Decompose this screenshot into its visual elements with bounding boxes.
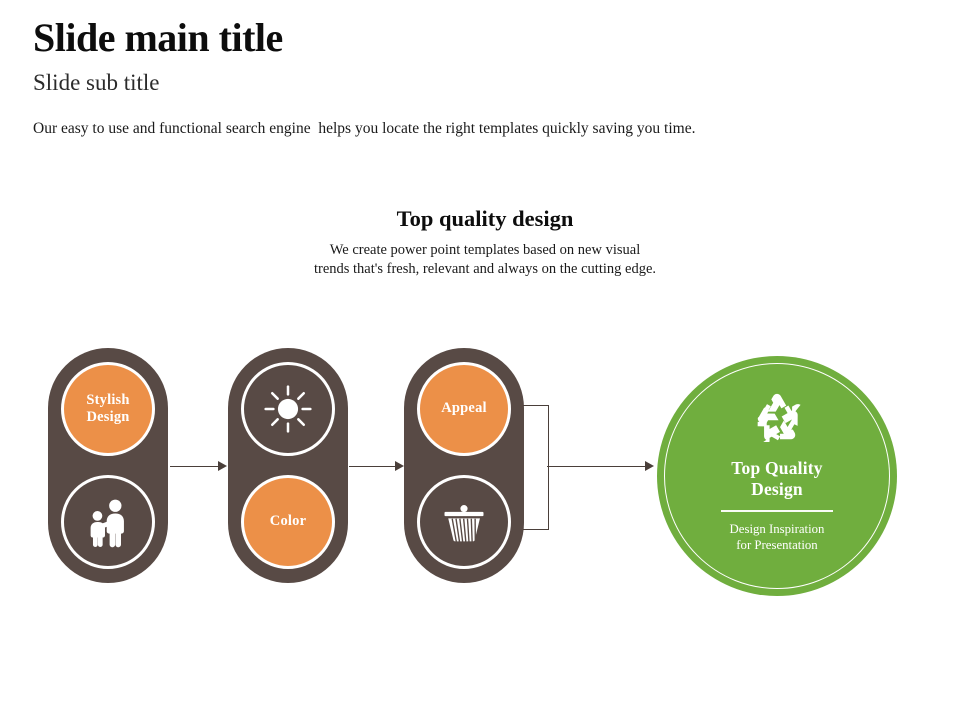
section-title: Top quality design [220, 205, 750, 232]
diagram-step-stylish-design[interactable]: Stylish Design [48, 348, 168, 583]
result-subtitle: Design Inspiration for Presentation [730, 521, 825, 554]
node-color-icon[interactable] [241, 362, 335, 456]
arrow-step3-to-result [547, 461, 654, 471]
recycle-icon [749, 392, 805, 442]
node-color-label[interactable]: Color [241, 475, 335, 569]
result-badge-top-quality-design[interactable]: Top Quality Design Design Inspiration fo… [657, 356, 897, 596]
arrow-head [395, 461, 404, 471]
arrow-head [645, 461, 654, 471]
page-subtitle: Slide sub title [33, 70, 923, 95]
node-stylish-design-icon[interactable] [61, 475, 155, 569]
sun-icon [262, 383, 314, 435]
node-label-text: Color [270, 513, 306, 530]
node-appeal-icon[interactable] [417, 475, 511, 569]
result-title: Top Quality Design [731, 458, 823, 499]
diagram-step-appeal[interactable]: Appeal [404, 348, 524, 583]
arrow-step1-to-step2 [170, 461, 227, 471]
arrow-step2-to-step3 [349, 461, 404, 471]
slide-header: Slide main title Slide sub title Our eas… [33, 16, 923, 139]
diagram-step-color[interactable]: Color [228, 348, 348, 583]
node-label-text: Appeal [441, 400, 487, 417]
bracket-connector [523, 405, 549, 530]
result-divider [721, 510, 833, 511]
intro-paragraph: Our easy to use and functional search en… [33, 119, 923, 138]
section-description: We create power point templates based on… [220, 241, 750, 280]
arrow-shaft [547, 466, 645, 467]
people-icon [82, 496, 134, 548]
process-diagram: Stylish Design [0, 330, 960, 610]
arrow-head [218, 461, 227, 471]
arrow-shaft [170, 466, 218, 467]
node-stylish-design-label[interactable]: Stylish Design [61, 362, 155, 456]
page-title: Slide main title [33, 16, 923, 59]
basket-icon [438, 496, 490, 548]
node-label-text: Stylish Design [86, 392, 129, 426]
arrow-shaft [349, 466, 395, 467]
section-heading-block: Top quality design We create power point… [220, 205, 750, 280]
node-appeal-label[interactable]: Appeal [417, 362, 511, 456]
